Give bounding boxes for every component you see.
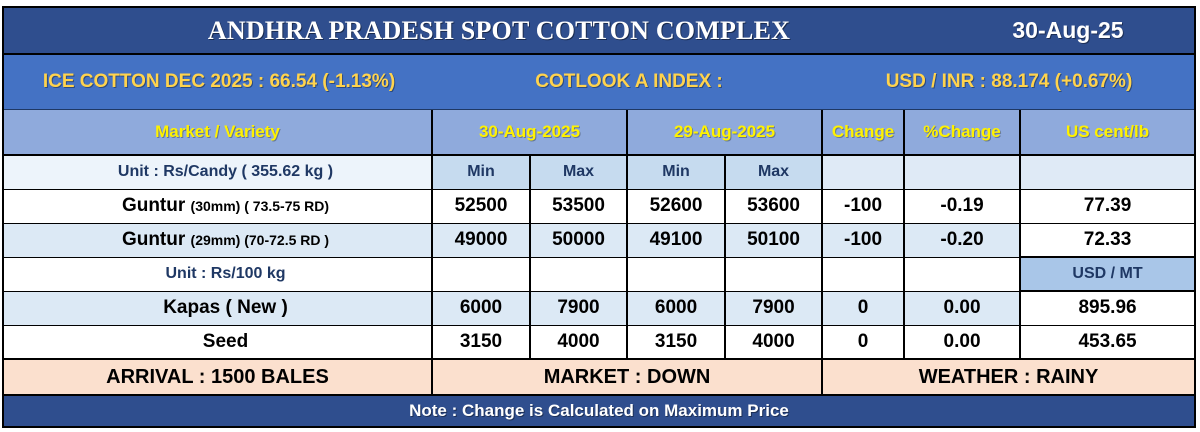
price-table-wrap: Market / Variety 30-Aug-2025 29-Aug-2025… (4, 110, 1194, 396)
cell-today-min: 49000 (432, 223, 530, 257)
report-date: 30-Aug-25 (942, 8, 1194, 53)
cell-prev-min: 3150 (627, 325, 725, 359)
subcol-today-max: Max (530, 155, 627, 189)
price-table: Market / Variety 30-Aug-2025 29-Aug-2025… (4, 110, 1194, 396)
col-header-date-today: 30-Aug-2025 (432, 110, 627, 155)
row-label-guntur-30mm: Guntur (30mm) ( 73.5-75 RD) (4, 189, 432, 223)
spacer-change (822, 257, 904, 291)
arrival-status: ARRIVAL : 1500 BALES (4, 359, 432, 395)
cell-prev-max: 53600 (725, 189, 822, 223)
cell-prev-max: 7900 (725, 291, 822, 325)
row-label-seed: Seed (4, 325, 432, 359)
cell-prev-min: 49100 (627, 223, 725, 257)
cell-today-max: 4000 (530, 325, 627, 359)
spacer-prev-max (725, 257, 822, 291)
cell-prev-max: 50100 (725, 223, 822, 257)
unit-label-100kg: Unit : Rs/100 kg (4, 257, 432, 291)
col-header-us-cent-lb: US cent/lb (1020, 110, 1194, 155)
cell-us-cent-lb: 77.39 (1020, 189, 1194, 223)
cell-change: -100 (822, 223, 904, 257)
cell-pct-change: -0.19 (904, 189, 1020, 223)
subcol-prev-min: Min (627, 155, 725, 189)
row-label-kapas: Kapas ( New ) (4, 291, 432, 325)
market-info-band: ICE COTTON DEC 2025 : 66.54 (-1.13%) COT… (4, 55, 1194, 110)
variety-name: Kapas ( New ) (163, 297, 288, 318)
cotlook-a-index: COTLOOK A INDEX : (434, 71, 824, 93)
spacer-today-max (530, 257, 627, 291)
cell-today-max: 7900 (530, 291, 627, 325)
cell-usd-mt: 453.65 (1020, 325, 1194, 359)
cell-prev-max: 4000 (725, 325, 822, 359)
cell-pct-change: 0.00 (904, 325, 1020, 359)
row-label-guntur-29mm: Guntur (29mm) (70-72.5 RD ) (4, 223, 432, 257)
col-header-change: Change (822, 110, 904, 155)
cell-today-min: 6000 (432, 291, 530, 325)
cell-change: 0 (822, 325, 904, 359)
weather-status: WEATHER : RAINY (822, 359, 1194, 395)
subcol-prev-max: Max (725, 155, 822, 189)
variety-spec: (29mm) (70-72.5 RD ) (191, 232, 330, 248)
subcol-usd-mt: USD / MT (1020, 257, 1194, 291)
variety-name: Guntur (122, 229, 185, 250)
status-row: ARRIVAL : 1500 BALES MARKET : DOWN WEATH… (4, 359, 1194, 395)
spacer-prev-min (627, 257, 725, 291)
table-row: Seed 3150 4000 3150 4000 0 0.00 453.65 (4, 325, 1194, 359)
cell-pct-change: 0.00 (904, 291, 1020, 325)
cell-today-max: 50000 (530, 223, 627, 257)
cell-today-min: 52500 (432, 189, 530, 223)
market-status: MARKET : DOWN (432, 359, 822, 395)
spacer-us-cent-lb (1020, 155, 1194, 189)
spacer-change (822, 155, 904, 189)
unit-label-candy: Unit : Rs/Candy ( 355.62 kg ) (4, 155, 432, 189)
variety-name: Seed (203, 331, 248, 352)
cell-prev-min: 52600 (627, 189, 725, 223)
cell-change: -100 (822, 189, 904, 223)
cotton-price-board: ANDHRA PRADESH SPOT COTTON COMPLEX 30-Au… (0, 0, 1200, 432)
title-bar: ANDHRA PRADESH SPOT COTTON COMPLEX 30-Au… (4, 8, 1194, 55)
cell-us-cent-lb: 72.33 (1020, 223, 1194, 257)
col-header-pct-change: %Change (904, 110, 1020, 155)
spacer-pct-change (904, 257, 1020, 291)
table-row: Guntur (30mm) ( 73.5-75 RD) 52500 53500 … (4, 189, 1194, 223)
variety-spec: (30mm) ( 73.5-75 RD) (191, 198, 330, 214)
col-header-market-variety: Market / Variety (4, 110, 432, 155)
spacer-pct-change (904, 155, 1020, 189)
table-row: Guntur (29mm) (70-72.5 RD ) 49000 50000 … (4, 223, 1194, 257)
variety-name: Guntur (122, 195, 185, 216)
ice-cotton-quote: ICE COTTON DEC 2025 : 66.54 (-1.13%) (4, 71, 434, 93)
cell-today-min: 3150 (432, 325, 530, 359)
cell-prev-min: 6000 (627, 291, 725, 325)
col-header-date-prev: 29-Aug-2025 (627, 110, 822, 155)
board-frame: ANDHRA PRADESH SPOT COTTON COMPLEX 30-Au… (2, 6, 1196, 428)
table-row: Kapas ( New ) 6000 7900 6000 7900 0 0.00… (4, 291, 1194, 325)
cell-usd-mt: 895.96 (1020, 291, 1194, 325)
cell-today-max: 53500 (530, 189, 627, 223)
cell-change: 0 (822, 291, 904, 325)
subcol-today-min: Min (432, 155, 530, 189)
footer-note: Note : Change is Calculated on Maximum P… (4, 396, 1194, 426)
unit-candy-row: Unit : Rs/Candy ( 355.62 kg ) Min Max Mi… (4, 155, 1194, 189)
spacer-today-min (432, 257, 530, 291)
cell-pct-change: -0.20 (904, 223, 1020, 257)
unit-100kg-row: Unit : Rs/100 kg USD / MT (4, 257, 1194, 291)
usd-inr-rate: USD / INR : 88.174 (+0.67%) (824, 71, 1194, 93)
table-header-row: Market / Variety 30-Aug-2025 29-Aug-2025… (4, 110, 1194, 155)
